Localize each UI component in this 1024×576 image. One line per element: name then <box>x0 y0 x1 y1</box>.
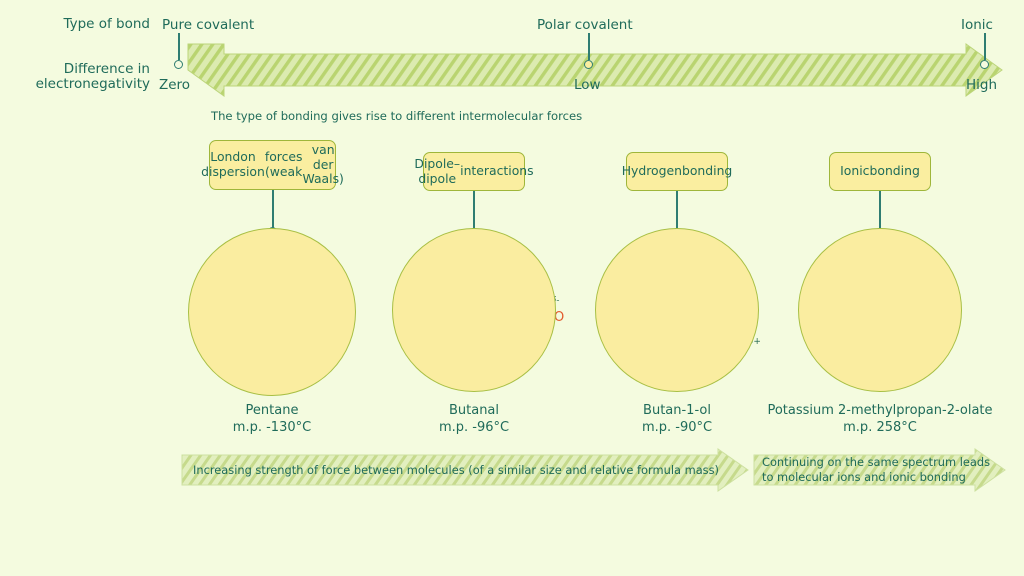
label-difference-line2: electronegativity <box>20 77 150 92</box>
caption-mp-pentane: m.p. -130°C <box>192 420 352 437</box>
molecule-circle-butan-1-ol[interactable] <box>595 228 759 392</box>
force-box-ionic-bonding[interactable]: Ionicbonding <box>829 152 931 191</box>
caption-name-butanal: Butanal <box>394 403 554 420</box>
diagram-canvas: C O H δ+ δ- C O H δ+ δ- O δ- <box>0 0 1024 576</box>
label-difference-line1: Difference in <box>20 62 150 77</box>
continuing-note-line2: to molecular ions and ionic bonding <box>762 470 966 485</box>
caption-mp-potassium-olate: m.p. 258°C <box>750 420 1010 437</box>
caption-name-butan-1-ol: Butan-1-ol <box>597 403 757 420</box>
increasing-strength-label: Increasing strength of force between mol… <box>193 463 719 478</box>
force-box-0-connector <box>272 190 274 230</box>
label-type-of-bond: Type of bond <box>20 17 150 32</box>
molecule-circle-potassium-olate[interactable] <box>798 228 962 392</box>
subtitle-text: The type of bonding gives rise to differ… <box>211 109 582 123</box>
spectrum-stop-ionic: Ionic <box>961 17 993 33</box>
spectrum-stop-2-connector <box>984 33 986 60</box>
force-box-hydrogen-bonding[interactable]: Hydrogenbonding <box>626 152 728 191</box>
caption-name-potassium-olate: Potassium 2-methylpropan-2-olate <box>750 403 1010 420</box>
molecule-circle-pentane[interactable] <box>188 228 356 396</box>
spectrum-stop-polar-covalent: Polar covalent <box>537 17 633 33</box>
spectrum-stop-1-connector <box>588 33 590 60</box>
force-box-dipole-dipole[interactable]: Dipole–dipoleinteractions <box>423 152 525 191</box>
force-box-3-connector <box>879 191 881 231</box>
caption-mp-butanal: m.p. -96°C <box>394 420 554 437</box>
molecule-circle-butanal[interactable] <box>392 228 556 392</box>
spectrum-value-low: Low <box>574 77 601 93</box>
spectrum-stop-1-marker <box>584 60 593 69</box>
spectrum-stop-0-marker <box>174 60 183 69</box>
force-box-london-dispersion[interactable]: London dispersionforces (weakvan der Waa… <box>209 140 336 190</box>
spectrum-stop-0-connector <box>178 33 180 60</box>
spectrum-value-zero: Zero <box>159 77 190 93</box>
caption-mp-butan-1-ol: m.p. -90°C <box>597 420 757 437</box>
force-box-1-connector <box>473 191 475 231</box>
force-box-2-connector <box>676 191 678 231</box>
spectrum-stop-2-marker <box>980 60 989 69</box>
continuing-note-line1: Continuing on the same spectrum leads <box>762 455 990 470</box>
spectrum-stop-pure-covalent: Pure covalent <box>162 17 254 33</box>
caption-name-pentane: Pentane <box>192 403 352 420</box>
spectrum-value-high: High <box>966 77 997 93</box>
